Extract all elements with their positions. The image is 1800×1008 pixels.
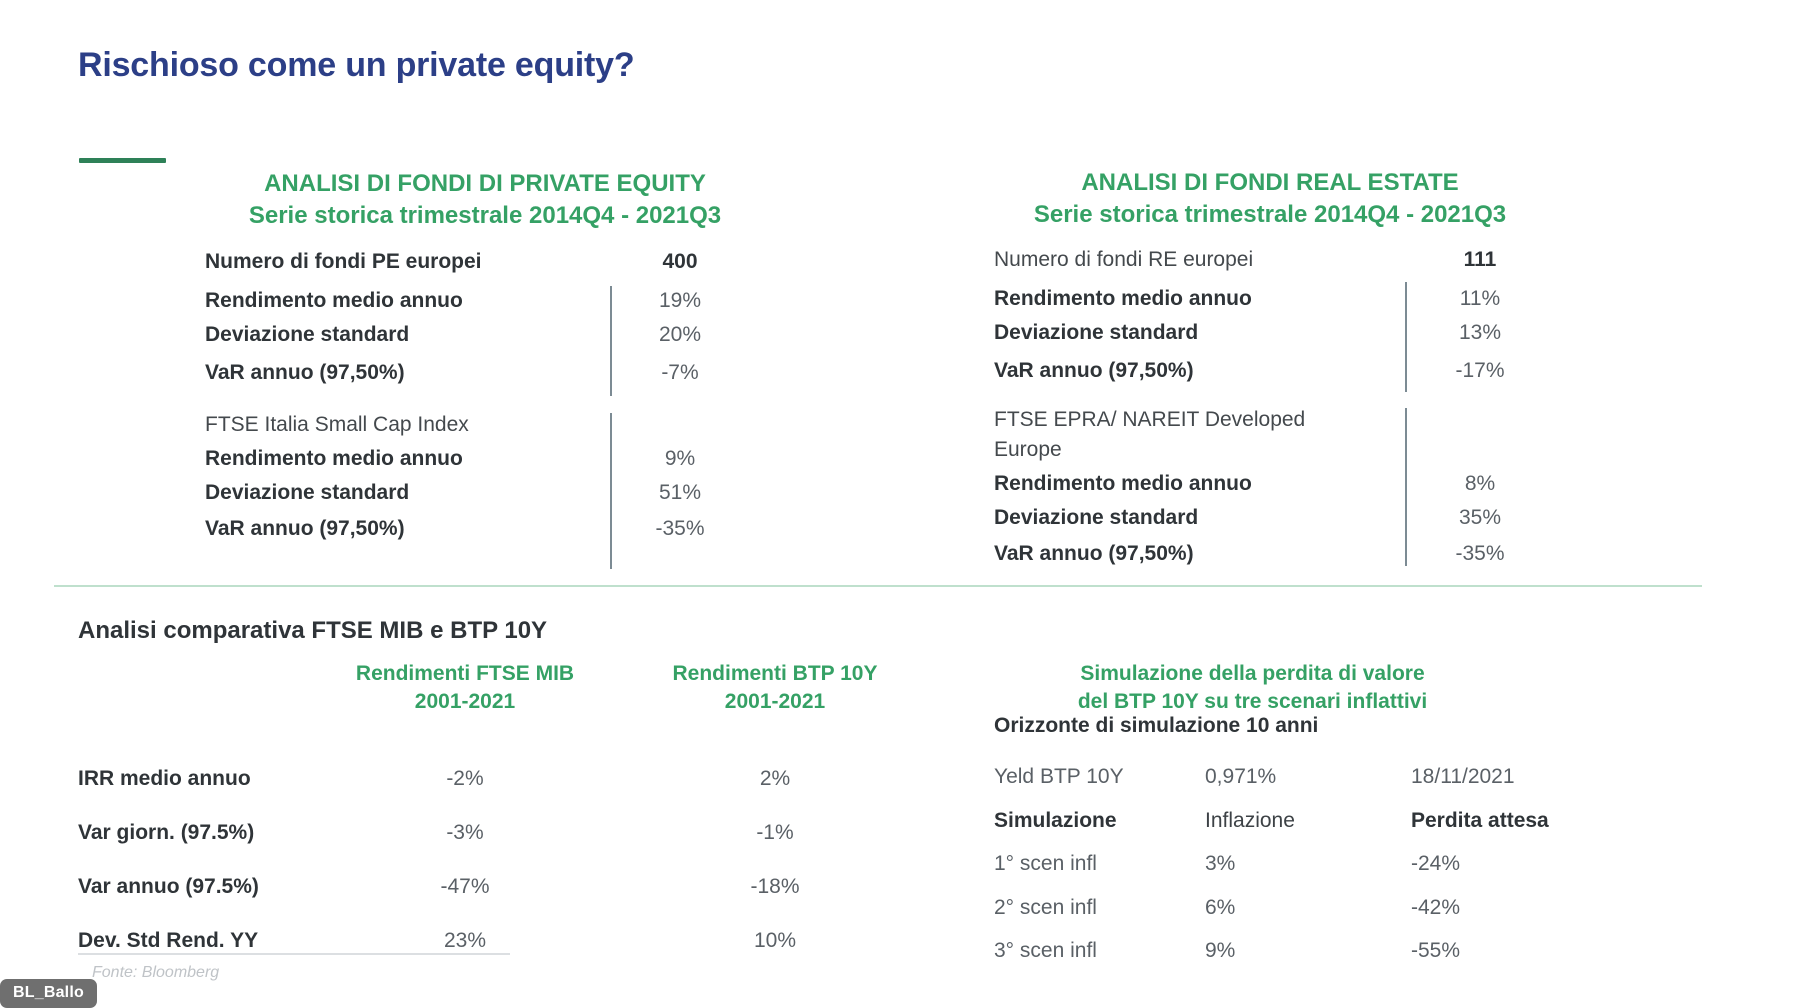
stat-row: FTSE EPRA/ NAREIT Developed <box>994 408 1594 438</box>
simulation-header-scenario: Simulazione <box>994 809 1117 833</box>
vertical-separator <box>1405 282 1407 392</box>
yield-date: 18/11/2021 <box>1411 765 1515 789</box>
stat-value: -35% <box>1405 542 1555 566</box>
column-header-btp-10y: Rendimenti BTP 10Y 2001-2021 <box>655 660 895 716</box>
page-title: Rischioso come un private equity? <box>78 46 634 85</box>
simulation-row-inflation: 6% <box>1205 896 1235 920</box>
simulation-row-loss: -42% <box>1411 896 1460 920</box>
stat-label: Rendimento medio annuo <box>205 447 610 471</box>
comparative-row-label: Dev. Std Rend. YY <box>78 929 258 953</box>
stat-label: VaR annuo (97,50%) <box>994 542 1405 566</box>
stat-value: 9% <box>610 447 750 471</box>
stat-label: Deviazione standard <box>994 321 1405 345</box>
section-heading-comparative: Analisi comparativa FTSE MIB e BTP 10Y <box>78 617 547 645</box>
stat-value: 400 <box>610 250 750 274</box>
column-header-line1: Rendimenti BTP 10Y <box>673 662 878 685</box>
stat-label: Deviazione standard <box>205 481 610 505</box>
stat-label: Deviazione standard <box>205 323 610 347</box>
stat-label: Numero di fondi RE europei <box>994 248 1405 272</box>
simulation-row-inflation: 9% <box>1205 939 1235 963</box>
pe-stat-group-index: FTSE Italia Small Cap Index Rendimento m… <box>205 413 765 551</box>
vertical-separator <box>1405 408 1407 566</box>
comparative-row-ftse-value: -3% <box>330 821 600 845</box>
stat-row: VaR annuo (97,50%) -35% <box>205 517 765 551</box>
simulation-subtitle: Orizzonte di simulazione 10 anni <box>994 714 1318 738</box>
stat-row: Deviazione standard 13% <box>994 321 1594 355</box>
stat-value: 111 <box>1405 248 1555 272</box>
comparative-row-btp-value: 2% <box>655 767 895 791</box>
stat-row: VaR annuo (97,50%) -17% <box>994 359 1594 393</box>
stat-label: VaR annuo (97,50%) <box>205 517 610 541</box>
stat-label: Rendimento medio annuo <box>994 287 1405 311</box>
stat-value: -17% <box>1405 359 1555 383</box>
simulation-row-loss: -24% <box>1411 852 1460 876</box>
stat-row: Rendimento medio annuo 11% <box>994 287 1594 321</box>
panel-title: ANALISI DI FONDI REAL ESTATE Serie stori… <box>990 167 1550 231</box>
pe-stat-group-funds: Numero di fondi PE europei 400 Rendiment… <box>205 250 765 395</box>
stat-row: Rendimento medio annuo 19% <box>205 289 765 323</box>
column-header-line2: 2001-2021 <box>415 690 515 713</box>
yield-label: Yeld BTP 10Y <box>994 765 1124 789</box>
panel-title: ANALISI DI FONDI DI PRIVATE EQUITY Serie… <box>205 168 765 232</box>
stat-value: 19% <box>610 289 750 313</box>
simulation-title-line1: Simulazione della perdita di valore <box>1080 662 1424 685</box>
stat-label: FTSE EPRA/ NAREIT Developed <box>994 408 1405 432</box>
stat-row: Deviazione standard 20% <box>205 323 765 357</box>
simulation-row-loss: -55% <box>1411 939 1460 963</box>
accent-bar <box>79 158 166 163</box>
stat-value: -7% <box>610 361 750 385</box>
stat-value: 13% <box>1405 321 1555 345</box>
panel-title-line2: Serie storica trimestrale 2014Q4 - 2021Q… <box>990 199 1550 231</box>
comparative-row-btp-value: -18% <box>655 875 895 899</box>
comparative-row-ftse-value: -47% <box>330 875 600 899</box>
panel-private-equity: ANALISI DI FONDI DI PRIVATE EQUITY Serie… <box>205 168 765 232</box>
simulation-row-scenario: 3° scen infl <box>994 939 1097 963</box>
section-divider <box>54 585 1702 587</box>
stat-label: Deviazione standard <box>994 506 1405 530</box>
simulation-header-loss: Perdita attesa <box>1411 809 1549 833</box>
column-header-line1: Rendimenti FTSE MIB <box>356 662 574 685</box>
column-header-line2: 2001-2021 <box>725 690 825 713</box>
comparative-row-label: Var giorn. (97.5%) <box>78 821 254 845</box>
comparative-row-label: IRR medio annuo <box>78 767 251 791</box>
panel-real-estate: ANALISI DI FONDI REAL ESTATE Serie stori… <box>990 167 1550 231</box>
re-stat-group-funds: Numero di fondi RE europei 111 Rendiment… <box>994 248 1594 393</box>
stat-label: Rendimento medio annuo <box>205 289 610 313</box>
stat-label: Numero di fondi PE europei <box>205 250 610 274</box>
column-header-ftse-mib: Rendimenti FTSE MIB 2001-2021 <box>330 660 600 716</box>
simulation-title-line2: del BTP 10Y su tre scenari inflattivi <box>1078 690 1427 713</box>
stat-row: VaR annuo (97,50%) -35% <box>994 542 1594 576</box>
stat-row: FTSE Italia Small Cap Index <box>205 413 765 447</box>
stat-value: 51% <box>610 481 750 505</box>
stat-value: 20% <box>610 323 750 347</box>
simulation-header-inflation: Inflazione <box>1205 809 1295 833</box>
comparative-row-ftse-value: 23% <box>330 929 600 953</box>
comparative-row-label: Var annuo (97.5%) <box>78 875 259 899</box>
simulation-row-scenario: 1° scen infl <box>994 852 1097 876</box>
watermark-badge: BL_Ballo <box>0 979 97 1008</box>
stat-row: Rendimento medio annuo 8% <box>994 472 1594 506</box>
stat-value: 8% <box>1405 472 1555 496</box>
comparative-row-btp-value: -1% <box>655 821 895 845</box>
comparative-row-ftse-value: -2% <box>330 767 600 791</box>
stat-value: 11% <box>1405 287 1555 311</box>
stat-label: Rendimento medio annuo <box>994 472 1405 496</box>
vertical-separator <box>610 286 612 396</box>
vertical-separator <box>610 413 612 569</box>
panel-title-line2: Serie storica trimestrale 2014Q4 - 2021Q… <box>205 200 765 232</box>
panel-title-line1: ANALISI DI FONDI DI PRIVATE EQUITY <box>264 170 706 197</box>
stat-row: Numero di fondi PE europei 400 <box>205 250 765 284</box>
stat-label: VaR annuo (97,50%) <box>994 359 1405 383</box>
source-note: Fonte: Bloomberg <box>92 964 219 982</box>
yield-value: 0,971% <box>1205 765 1276 789</box>
stat-value: 35% <box>1405 506 1555 530</box>
re-stat-group-index: FTSE EPRA/ NAREIT Developed Europe Rendi… <box>994 408 1594 576</box>
stat-label: VaR annuo (97,50%) <box>205 361 610 385</box>
comparative-row-btp-value: 10% <box>655 929 895 953</box>
stat-row: VaR annuo (97,50%) -7% <box>205 361 765 395</box>
stat-row: Deviazione standard 35% <box>994 506 1594 540</box>
stat-row: Numero di fondi RE europei 111 <box>994 248 1594 282</box>
table-underline <box>78 953 510 955</box>
stat-label: FTSE Italia Small Cap Index <box>205 413 610 437</box>
simulation-row-inflation: 3% <box>1205 852 1235 876</box>
simulation-row-scenario: 2° scen infl <box>994 896 1097 920</box>
stat-row: Rendimento medio annuo 9% <box>205 447 765 481</box>
simulation-title: Simulazione della perdita di valore del … <box>980 660 1525 716</box>
stat-value: -35% <box>610 517 750 541</box>
stat-label-wrap: Europe <box>994 438 1405 462</box>
stat-row: Europe <box>994 438 1594 472</box>
panel-title-line1: ANALISI DI FONDI REAL ESTATE <box>1081 169 1458 196</box>
stat-row: Deviazione standard 51% <box>205 481 765 515</box>
